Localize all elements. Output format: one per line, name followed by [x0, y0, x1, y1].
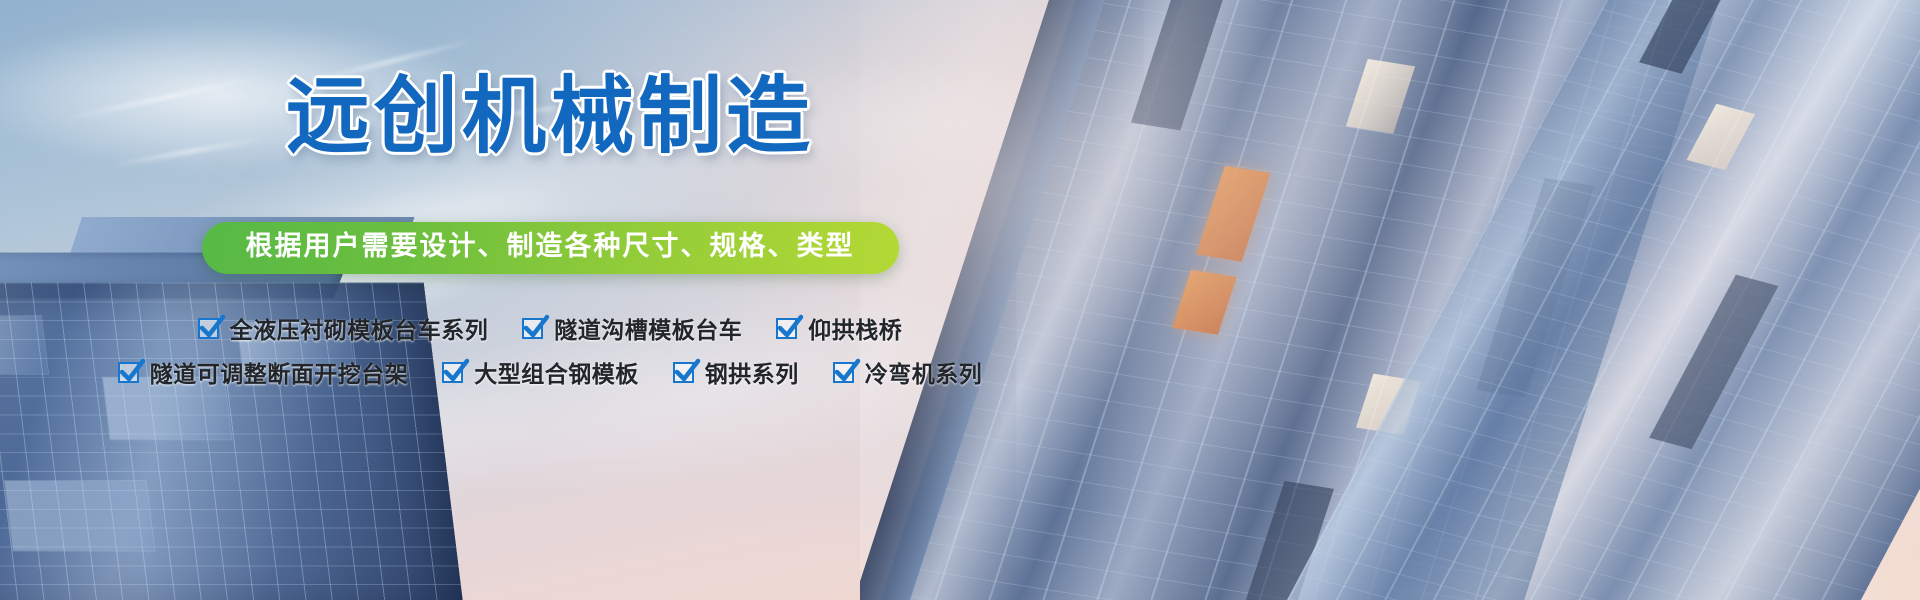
- feature-row-2: 隧道可调整断面开挖台架 大型组合钢模板 钢拱系列 冷弯机系列: [0, 355, 1100, 389]
- feature-item[interactable]: 隧道沟槽模板台车: [522, 311, 742, 345]
- checkbox-checked-icon: [198, 318, 219, 339]
- feature-label: 钢拱系列: [705, 355, 799, 389]
- hero-banner: 远创机械制造 根据用户需要设计、制造各种尺寸、规格、类型 全液压衬砌模板台车系列…: [0, 0, 1920, 600]
- subtitle-pill-wrapper: 根据用户需要设计、制造各种尺寸、规格、类型: [0, 222, 1100, 274]
- feature-item[interactable]: 钢拱系列: [673, 355, 799, 389]
- feature-row-1: 全液压衬砌模板台车系列 隧道沟槽模板台车 仰拱栈桥: [0, 311, 1100, 345]
- feature-item[interactable]: 冷弯机系列: [833, 355, 983, 389]
- feature-label: 隧道沟槽模板台车: [554, 311, 742, 345]
- banner-content: 远创机械制造 根据用户需要设计、制造各种尺寸、规格、类型 全液压衬砌模板台车系列…: [0, 0, 1100, 600]
- feature-label: 大型组合钢模板: [474, 355, 639, 389]
- feature-item[interactable]: 全液压衬砌模板台车系列: [198, 311, 489, 345]
- checkbox-checked-icon: [673, 362, 694, 383]
- checkbox-checked-icon: [442, 362, 463, 383]
- feature-label: 隧道可调整断面开挖台架: [150, 355, 409, 389]
- feature-label: 仰拱栈桥: [808, 311, 902, 345]
- feature-item[interactable]: 大型组合钢模板: [442, 355, 639, 389]
- feature-label: 冷弯机系列: [865, 355, 983, 389]
- feature-label: 全液压衬砌模板台车系列: [230, 311, 489, 345]
- checkbox-checked-icon: [776, 318, 797, 339]
- checkbox-checked-icon: [522, 318, 543, 339]
- checkbox-checked-icon: [833, 362, 854, 383]
- page-title: 远创机械制造: [0, 74, 1100, 158]
- subtitle-pill: 根据用户需要设计、制造各种尺寸、规格、类型: [202, 222, 899, 274]
- checkbox-checked-icon: [118, 362, 139, 383]
- feature-item[interactable]: 仰拱栈桥: [776, 311, 902, 345]
- feature-item[interactable]: 隧道可调整断面开挖台架: [118, 355, 409, 389]
